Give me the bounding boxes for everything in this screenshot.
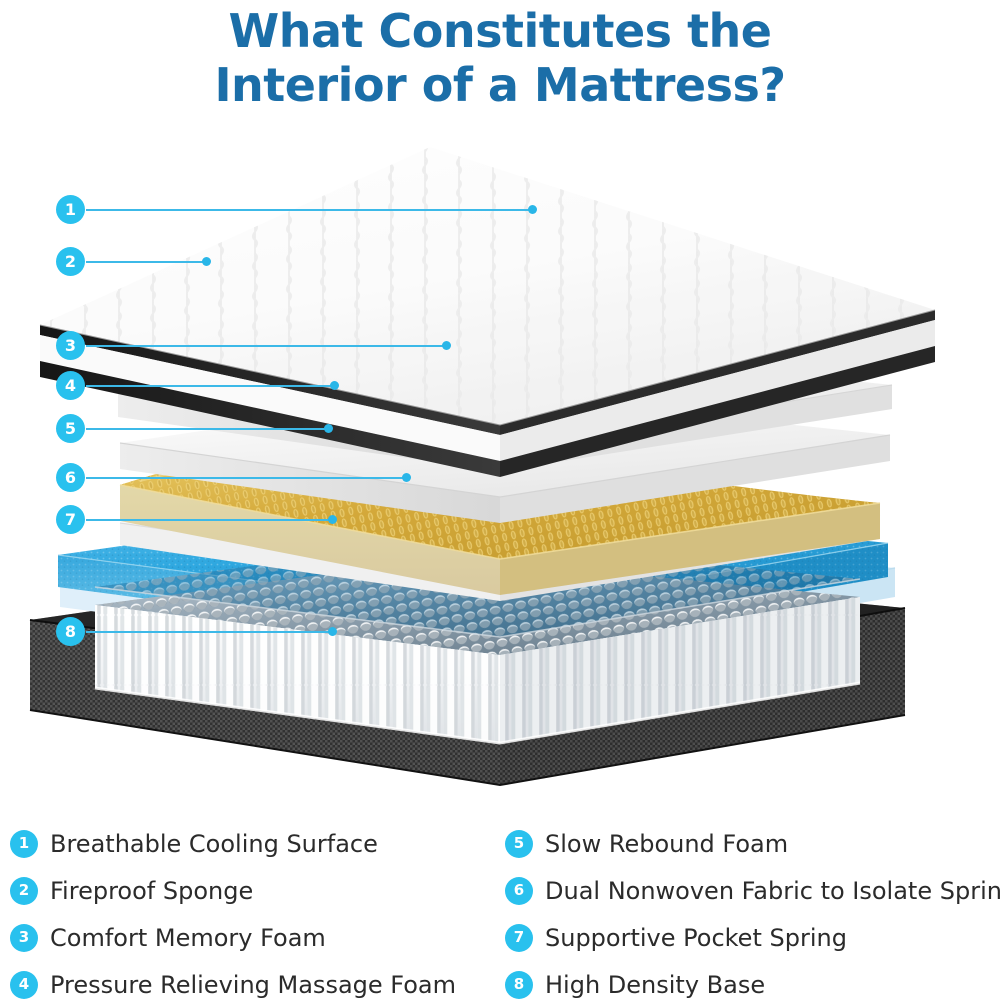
legend-badge-1: 1 xyxy=(10,830,38,858)
legend: 1Breathable Cooling Surface2Fireproof Sp… xyxy=(0,820,1000,1000)
legend-label-4: Pressure Relieving Massage Foam xyxy=(50,971,456,999)
legend-label-6: Dual Nonwoven Fabric to Isolate Spring xyxy=(545,877,1000,905)
callout-leader-line-5 xyxy=(86,428,328,430)
legend-item-1[interactable]: 1Breathable Cooling Surface xyxy=(10,820,500,867)
callout-badge-7[interactable]: 7 xyxy=(56,505,85,534)
legend-badge-5: 5 xyxy=(505,830,533,858)
callout-badge-2[interactable]: 2 xyxy=(56,247,85,276)
legend-item-3[interactable]: 3Comfort Memory Foam xyxy=(10,914,500,961)
legend-badge-3: 3 xyxy=(10,924,38,952)
legend-item-5[interactable]: 5Slow Rebound Foam xyxy=(505,820,1000,867)
legend-label-5: Slow Rebound Foam xyxy=(545,830,788,858)
legend-badge-7: 7 xyxy=(505,924,533,952)
legend-item-4[interactable]: 4Pressure Relieving Massage Foam xyxy=(10,961,500,1000)
callout-leader-line-3 xyxy=(86,345,446,347)
legend-badge-6: 6 xyxy=(505,877,533,905)
legend-column-right: 5Slow Rebound Foam6Dual Nonwoven Fabric … xyxy=(505,820,1000,1000)
callout-badge-3[interactable]: 3 xyxy=(56,331,85,360)
page-title: What Constitutes the Interior of a Mattr… xyxy=(0,4,1000,112)
mattress-layers-svg xyxy=(0,125,1000,815)
title-line-1: What Constitutes the xyxy=(0,4,1000,58)
callout-badge-5[interactable]: 5 xyxy=(56,414,85,443)
legend-column-left: 1Breathable Cooling Surface2Fireproof Sp… xyxy=(10,820,500,1000)
callout-leader-dot-8 xyxy=(328,627,337,636)
legend-item-2[interactable]: 2Fireproof Sponge xyxy=(10,867,500,914)
legend-label-7: Supportive Pocket Spring xyxy=(545,924,847,952)
callout-leader-dot-2 xyxy=(202,257,211,266)
infographic-page: What Constitutes the Interior of a Mattr… xyxy=(0,0,1000,1000)
legend-badge-2: 2 xyxy=(10,877,38,905)
callout-badge-8[interactable]: 8 xyxy=(56,617,85,646)
callout-leader-line-1 xyxy=(86,209,532,211)
callout-leader-line-6 xyxy=(86,477,406,479)
callout-leader-line-8 xyxy=(86,631,332,633)
title-line-2: Interior of a Mattress? xyxy=(0,58,1000,112)
callout-leader-line-4 xyxy=(86,385,334,387)
callout-leader-dot-6 xyxy=(402,473,411,482)
callout-leader-line-7 xyxy=(86,519,332,521)
callout-leader-dot-4 xyxy=(330,381,339,390)
callout-leader-dot-1 xyxy=(528,205,537,214)
legend-label-3: Comfort Memory Foam xyxy=(50,924,326,952)
legend-label-8: High Density Base xyxy=(545,971,765,999)
legend-label-2: Fireproof Sponge xyxy=(50,877,253,905)
legend-item-7[interactable]: 7Supportive Pocket Spring xyxy=(505,914,1000,961)
callout-badge-1[interactable]: 1 xyxy=(56,195,85,224)
legend-item-6[interactable]: 6Dual Nonwoven Fabric to Isolate Spring xyxy=(505,867,1000,914)
callout-leader-dot-7 xyxy=(328,515,337,524)
legend-label-1: Breathable Cooling Surface xyxy=(50,830,378,858)
callout-badge-4[interactable]: 4 xyxy=(56,371,85,400)
callout-leader-dot-5 xyxy=(324,424,333,433)
callout-leader-line-2 xyxy=(86,261,206,263)
mattress-exploded-diagram xyxy=(0,125,1000,815)
legend-item-8[interactable]: 8High Density Base xyxy=(505,961,1000,1000)
legend-badge-8: 8 xyxy=(505,971,533,999)
callout-badge-6[interactable]: 6 xyxy=(56,463,85,492)
callout-leader-dot-3 xyxy=(442,341,451,350)
legend-badge-4: 4 xyxy=(10,971,38,999)
